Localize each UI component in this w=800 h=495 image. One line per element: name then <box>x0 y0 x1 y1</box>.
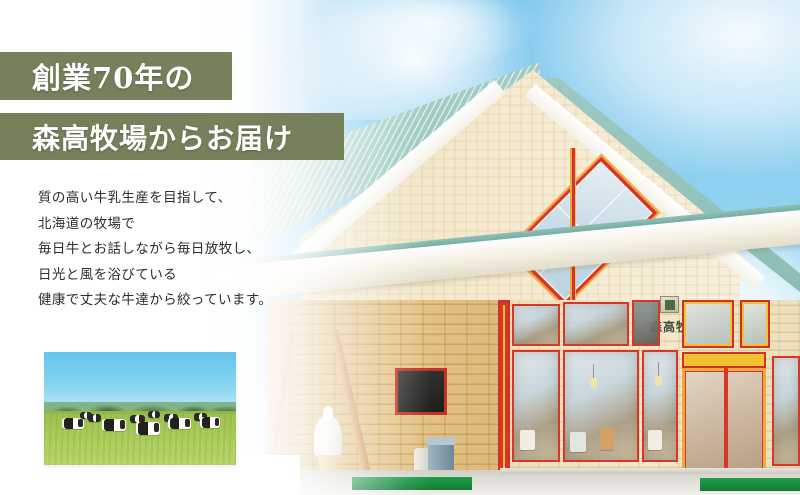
side-brick-wall <box>268 300 498 495</box>
headline-banner-line2: 森高牧場からお届け <box>0 113 344 160</box>
entrance-mat-right <box>700 478 800 491</box>
body-copy-line: 健康で丈夫な牛達から絞っています。 <box>38 288 338 314</box>
pendant-lamp-icon <box>590 378 597 388</box>
body-copy: 質の高い牛乳生産を目指して、 北海道の牧場で 毎日牛とお話しながら毎日放牧し、 … <box>38 186 338 314</box>
headline-text-line1: 創業70年の <box>32 55 194 97</box>
interior-chair <box>520 430 535 450</box>
entrance-mat-left <box>352 477 472 490</box>
transom-window-right <box>682 300 734 348</box>
transom-window-corner <box>740 300 770 348</box>
body-copy-line: 日光と風を浴びている <box>38 263 338 289</box>
side-small-window <box>395 368 447 415</box>
body-copy-line: 毎日牛とお話しながら毎日放牧し、 <box>38 237 338 263</box>
pasture-photo-inset <box>44 352 236 465</box>
farm-logo-plaque-icon <box>660 296 679 313</box>
cow <box>148 411 160 418</box>
window-pane-upper-2 <box>563 302 629 346</box>
interior-chair <box>648 430 662 450</box>
window-pane-far-right <box>772 356 800 466</box>
pendant-lamp-icon <box>655 376 662 386</box>
cow <box>168 418 191 429</box>
interior-chair <box>600 428 614 450</box>
cow <box>102 419 126 431</box>
window-bay-left <box>498 300 510 495</box>
window-pane-upper-1 <box>512 304 560 346</box>
cow <box>200 417 220 428</box>
door-header <box>682 352 766 368</box>
window-pane-upper-3 <box>632 300 660 346</box>
cow <box>62 418 84 429</box>
body-copy-line: 質の高い牛乳生産を目指して、 <box>38 186 338 212</box>
banner-stage: 森高牧場 <box>0 0 800 495</box>
headline-banner-line1: 創業70年の <box>0 52 232 100</box>
interior-chair <box>570 432 586 452</box>
body-copy-line: 北海道の牧場で <box>38 212 338 238</box>
cow <box>136 422 160 435</box>
curb <box>500 468 800 474</box>
headline-text-line2: 森高牧場からお届け <box>32 117 293 157</box>
cow <box>80 412 92 419</box>
